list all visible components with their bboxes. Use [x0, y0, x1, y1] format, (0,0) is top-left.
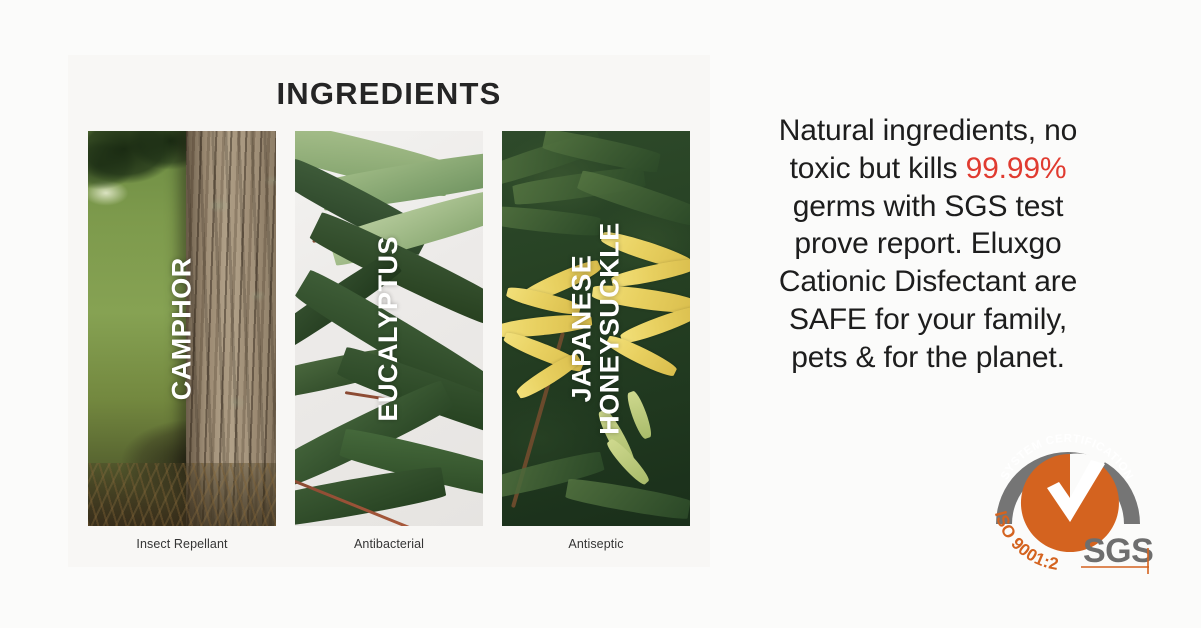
- caption-eucalyptus: Antibacterial: [295, 537, 483, 551]
- copy-line-7: pets & for the planet.: [791, 341, 1065, 374]
- ingredients-panel: INGREDIENTS CAMPHOR: [68, 55, 710, 567]
- ingredient-card-eucalyptus[interactable]: EUCALYPTUS: [295, 131, 483, 526]
- ingredient-captions-row: Insect Repellant Antibacterial Antisepti…: [88, 537, 690, 551]
- right-column: Natural ingredients, no toxic but kills …: [740, 0, 1160, 628]
- camphor-tree-image: [88, 131, 276, 526]
- copy-line-3: germs with SGS test: [793, 190, 1064, 223]
- leaf-shape: [502, 204, 601, 237]
- sgs-iso-certification-logo: SYSTEM CERTIFICATION ISO 9001:2000 SGS: [985, 412, 1155, 577]
- ground-litter-shape: [88, 463, 276, 526]
- copy-line-6: SAFE for your family,: [789, 303, 1067, 336]
- ingredient-card-camphor[interactable]: CAMPHOR: [88, 131, 276, 526]
- sgs-brand-wordmark: SGS: [1083, 532, 1153, 570]
- ingredient-card-japanese-honeysuckle[interactable]: JAPANESE HONEYSUCKLE: [502, 131, 690, 526]
- copy-line-2-prefix: toxic but kills: [790, 152, 966, 185]
- flower-bud: [624, 389, 654, 440]
- ingredient-cards-row: CAMPHOR: [88, 131, 690, 526]
- japanese-honeysuckle-image: [502, 131, 690, 526]
- caption-camphor: Insect Repellant: [88, 537, 276, 551]
- leaf-shape: [565, 476, 690, 521]
- leaf-shape: [542, 131, 661, 174]
- germ-kill-percentage: 99.99%: [966, 152, 1067, 185]
- copy-line-1: Natural ingredients, no: [779, 114, 1077, 147]
- copy-line-5: Cationic Disfectant are: [779, 265, 1077, 298]
- marketing-copy: Natural ingredients, no toxic but kills …: [740, 112, 1116, 377]
- copy-line-4: prove report. Eluxgo: [794, 227, 1061, 260]
- caption-japanese-honeysuckle: Antiseptic: [502, 537, 690, 551]
- eucalyptus-leaves-image: [295, 131, 483, 526]
- page-title: INGREDIENTS: [68, 76, 710, 112]
